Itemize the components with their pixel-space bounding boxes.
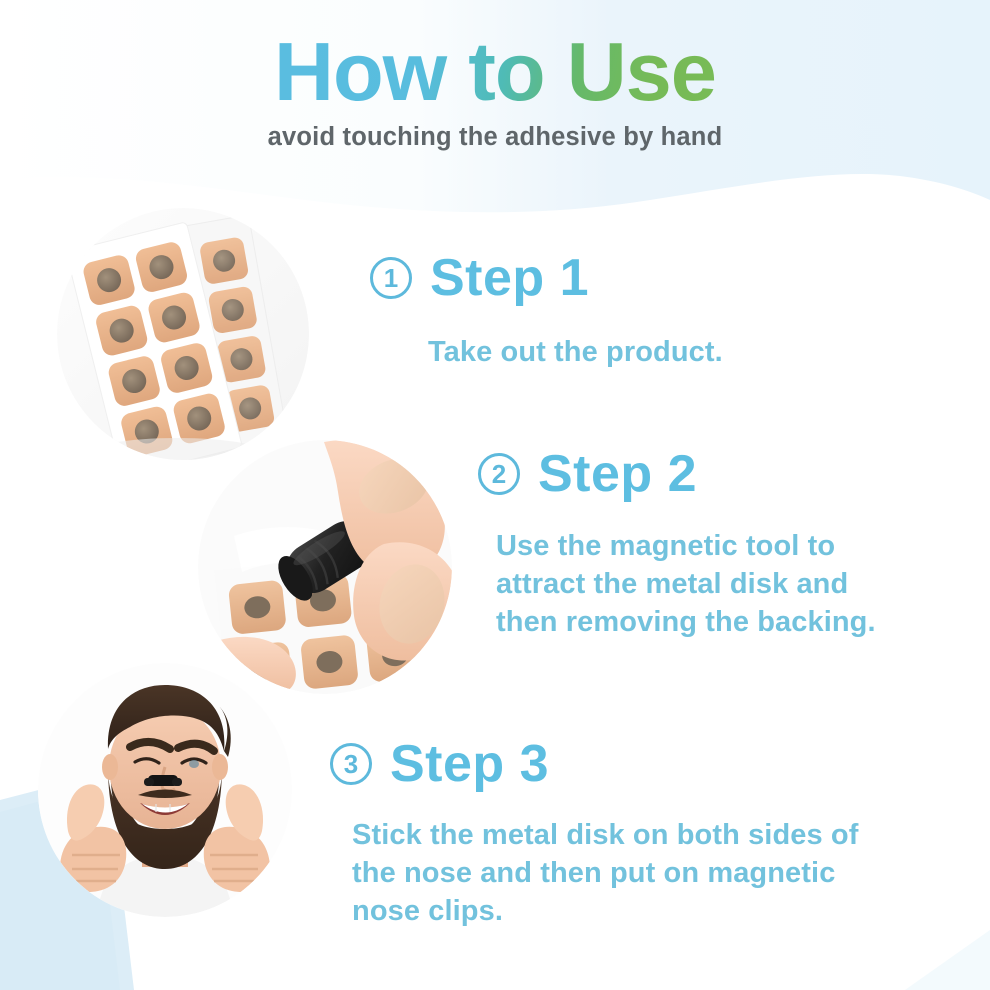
man-thumbs-up-photo (38, 663, 292, 917)
product-sheet-photo (57, 208, 309, 460)
page-subtitle: avoid touching the adhesive by hand (0, 123, 990, 152)
step-1-number-badge: 1 (370, 257, 412, 299)
step-1-description: Take out the product. (428, 334, 723, 372)
step-1: 1 Step 1 Take out the product. (370, 252, 723, 372)
step-2-description-line: attract the metal disk and (496, 566, 876, 604)
step-2-description-line: then removing the backing. (496, 604, 876, 642)
step-3-description: Stick the metal disk on both sides of th… (352, 817, 858, 931)
magnetic-tool-photo (198, 440, 452, 694)
step-3-description-line: the nose and then put on magnetic (352, 855, 858, 893)
infographic-page: How to Use avoid touching the adhesive b… (0, 0, 990, 990)
step-2-title: Step 2 (538, 448, 697, 500)
step-2-heading: 2 Step 2 (478, 448, 876, 500)
page-title: How to Use (274, 28, 716, 115)
step-1-heading: 1 Step 1 (370, 252, 723, 304)
header: How to Use avoid touching the adhesive b… (0, 0, 990, 152)
step-2: 2 Step 2 Use the magnetic tool to attrac… (478, 448, 876, 642)
nose-clip (144, 775, 182, 786)
step-3-number-badge: 3 (330, 743, 372, 785)
step-3: 3 Step 3 Stick the metal disk on both si… (330, 738, 858, 931)
step-2-number-badge: 2 (478, 453, 520, 495)
step-3-description-line: Stick the metal disk on both sides of (352, 817, 858, 855)
bottom-right-tint (905, 930, 990, 990)
step-2-description-line: Use the magnetic tool to (496, 528, 876, 566)
step-3-title: Step 3 (390, 738, 549, 790)
step-2-description: Use the magnetic tool to attract the met… (496, 528, 876, 642)
step-3-description-line: nose clips. (352, 893, 858, 931)
step-3-heading: 3 Step 3 (330, 738, 858, 790)
step-1-title: Step 1 (430, 252, 589, 304)
